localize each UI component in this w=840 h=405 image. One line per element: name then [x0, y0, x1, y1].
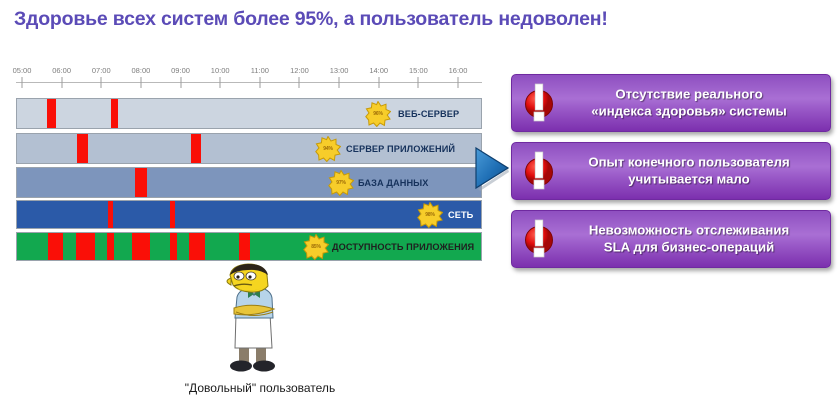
axis-tick-mark [339, 77, 340, 88]
axis-tick-label: 10:00 [211, 66, 230, 75]
outage-segment[interactable] [170, 233, 177, 260]
unhappy-user-illustration [190, 262, 320, 377]
issue-callout-box[interactable]: Отсутствие реального«индекса здоровья» с… [511, 74, 831, 132]
axis-tick-label: 16:00 [449, 66, 468, 75]
bar-label: БАЗА ДАННЫХ [358, 178, 429, 188]
warning-exclamation-icon [520, 149, 558, 193]
availability-bar-row[interactable]: 96%ВЕБ-СЕРВЕР [16, 98, 482, 129]
outage-segment[interactable] [170, 201, 175, 228]
callout-text: Отсутствие реального«индекса здоровья» с… [556, 87, 822, 120]
axis-baseline [16, 82, 482, 83]
warning-exclamation-icon [520, 217, 558, 261]
axis-tick-label: 14:00 [369, 66, 388, 75]
health-percentage-badge[interactable]: 85% [303, 234, 329, 260]
axis-tick-label: 12:00 [290, 66, 309, 75]
availability-bar-row[interactable]: 97%БАЗА ДАННЫХ [16, 167, 482, 198]
system-availability-timeline: 05:0006:0007:0008:0009:0010:0011:0012:00… [10, 66, 488, 266]
callout-text: Невозможность отслеживанияSLA для бизнес… [556, 223, 822, 256]
health-percentage-badge[interactable]: 97% [328, 170, 354, 196]
issue-callout-box[interactable]: Невозможность отслеживанияSLA для бизнес… [511, 210, 831, 268]
outage-segment[interactable] [239, 233, 250, 260]
badge-value: 94% [323, 146, 332, 152]
badge-value: 96% [373, 111, 382, 117]
outage-segment[interactable] [191, 134, 201, 163]
badge-value: 97% [336, 180, 345, 186]
bar-label: СЕРВЕР ПРИЛОЖЕНИЙ [346, 144, 455, 154]
axis-tick-mark [418, 77, 419, 88]
badge-value: 85% [311, 244, 320, 250]
axis-tick-label: 11:00 [251, 66, 269, 75]
axis-tick-mark [180, 77, 181, 88]
axis-tick-label: 07:00 [92, 66, 111, 75]
bar-label: СЕТЬ [448, 210, 473, 220]
issue-callout-box[interactable]: Опыт конечного пользователяучитывается м… [511, 142, 831, 200]
outage-segment[interactable] [108, 201, 113, 228]
callout-text: Опыт конечного пользователяучитывается м… [556, 155, 822, 188]
outage-segment[interactable] [135, 168, 147, 197]
axis-tick-mark [140, 77, 141, 88]
page-title: Здоровье всех систем более 95%, а пользо… [14, 8, 814, 31]
axis-tick-mark [378, 77, 379, 88]
health-percentage-badge[interactable]: 94% [315, 136, 341, 162]
axis-tick-mark [259, 77, 260, 88]
axis-tick-mark [61, 77, 62, 88]
bar-label: ВЕБ-СЕРВЕР [398, 109, 459, 119]
bar-label: ДОСТУПНОСТЬ ПРИЛОЖЕНИЯ [332, 242, 474, 252]
axis-tick-mark [101, 77, 102, 88]
outage-segment[interactable] [107, 233, 114, 260]
axis-tick-mark [220, 77, 221, 88]
outage-segment[interactable] [47, 99, 56, 128]
axis-tick-mark [22, 77, 23, 88]
axis-tick-label: 05:00 [13, 66, 32, 75]
blue-right-arrow-icon [472, 145, 512, 191]
outage-segment[interactable] [189, 233, 205, 260]
outage-segment[interactable] [132, 233, 149, 260]
health-percentage-badge[interactable]: 96% [365, 101, 391, 127]
axis-tick-mark [458, 77, 459, 88]
axis-tick-label: 09:00 [171, 66, 190, 75]
axis-tick-mark [299, 77, 300, 88]
character-caption: "Довольный" пользователь [120, 381, 400, 395]
outage-segment[interactable] [111, 99, 119, 128]
outage-segment[interactable] [77, 134, 89, 163]
availability-bar-row[interactable]: 94%СЕРВЕР ПРИЛОЖЕНИЙ [16, 133, 482, 164]
outage-segment[interactable] [76, 233, 95, 260]
axis-tick-label: 08:00 [132, 66, 151, 75]
axis-tick-label: 06:00 [52, 66, 71, 75]
availability-bar-row[interactable]: 98%СЕТЬ [16, 200, 482, 229]
axis-tick-label: 13:00 [330, 66, 349, 75]
availability-track [16, 200, 482, 229]
health-percentage-badge[interactable]: 98% [417, 202, 443, 228]
axis-tick-label: 15:00 [409, 66, 428, 75]
slide-canvas: Здоровье всех систем более 95%, а пользо… [0, 0, 840, 405]
availability-bar-row[interactable]: 85%ДОСТУПНОСТЬ ПРИЛОЖЕНИЯ [16, 232, 482, 261]
badge-value: 98% [425, 212, 434, 218]
time-axis: 05:0006:0007:0008:0009:0010:0011:0012:00… [16, 66, 482, 96]
outage-segment[interactable] [48, 233, 63, 260]
warning-exclamation-icon [520, 81, 558, 125]
